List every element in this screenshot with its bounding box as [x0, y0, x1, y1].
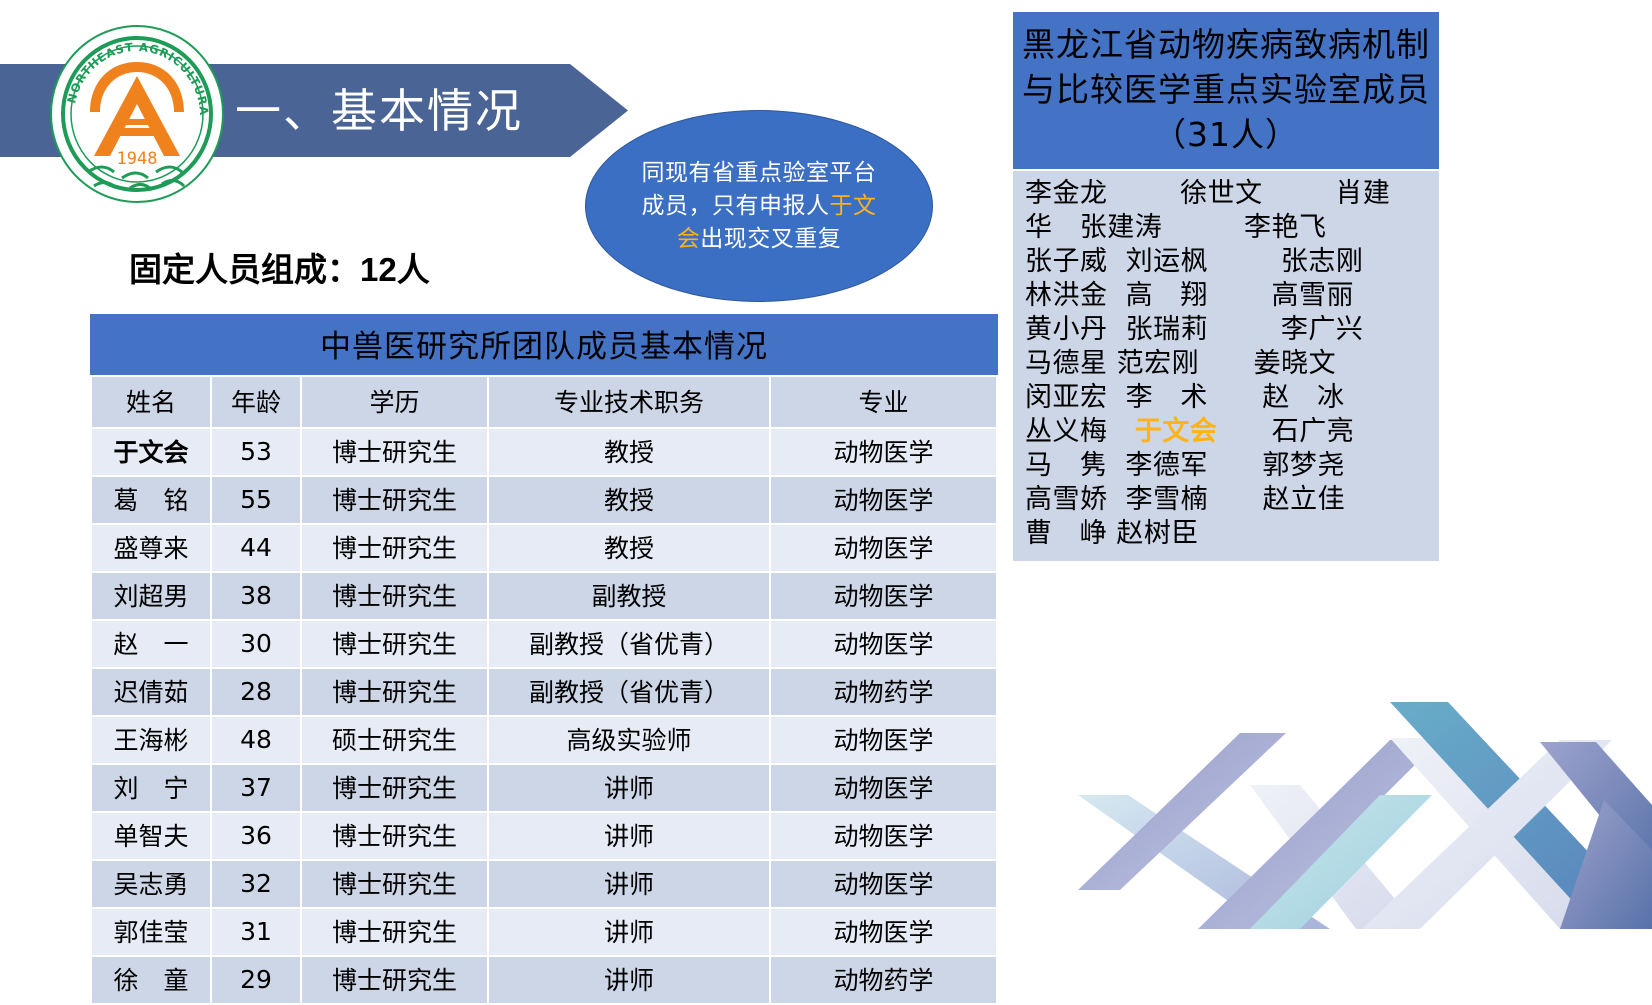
callout-text-after: 出现交叉重复: [700, 226, 841, 252]
cell-name: 赵 一: [92, 621, 210, 667]
team-table-caption: 中兽医研究所团队成员基本情况: [90, 314, 998, 375]
lab-member-names: 马德星 范宏刚 姜晓文: [1025, 348, 1336, 379]
lab-member-line: 丛义梅 于文会 石广亮: [1025, 415, 1429, 449]
cell-age: 31: [212, 909, 300, 955]
cell-major: 动物医学: [771, 765, 996, 811]
table-row: 徐 童29博士研究生讲师动物药学: [92, 957, 996, 1003]
lab-member-names: 丛义梅: [1025, 416, 1135, 447]
cell-name: 刘超男: [92, 573, 210, 619]
cell-title: 教授: [489, 525, 769, 571]
cell-age: 38: [212, 573, 300, 619]
cell-degree: 博士研究生: [302, 621, 487, 667]
table-row: 于文会53博士研究生教授动物医学: [92, 429, 996, 475]
cell-major: 动物医学: [771, 525, 996, 571]
cell-title: 讲师: [489, 765, 769, 811]
cell-degree: 硕士研究生: [302, 717, 487, 763]
cell-degree: 博士研究生: [302, 957, 487, 1003]
lab-member-names: 高雪娇 李雪楠 赵立佳: [1025, 484, 1345, 515]
cell-title: 讲师: [489, 813, 769, 859]
cell-age: 44: [212, 525, 300, 571]
cell-age: 30: [212, 621, 300, 667]
decorative-ribbon-graphic: [1000, 620, 1652, 929]
cell-degree: 博士研究生: [302, 813, 487, 859]
cell-name: 刘 宁: [92, 765, 210, 811]
callout-bubble: 同现有省重点验室平台成员，只有申报人于文会出现交叉重复: [585, 110, 933, 302]
cell-age: 37: [212, 765, 300, 811]
cell-name: 葛 铭: [92, 477, 210, 523]
cell-title: 讲师: [489, 909, 769, 955]
team-table-container: 中兽医研究所团队成员基本情况 姓名 年龄 学历 专业技术职务 专业 于文会53博…: [90, 314, 986, 1005]
lab-member-line: 李金龙 徐世文 肖建: [1025, 177, 1429, 211]
table-row: 单智夫36博士研究生讲师动物医学: [92, 813, 996, 859]
lab-panel-title: 黑龙江省动物疾病致病机制与比较医学重点实验室成员（31人）: [1013, 12, 1439, 169]
table-row: 刘 宁37博士研究生讲师动物医学: [92, 765, 996, 811]
lab-member-line: 黄小丹 张瑞莉 李广兴: [1025, 313, 1429, 347]
table-row: 迟倩茹28博士研究生副教授（省优青）动物药学: [92, 669, 996, 715]
cell-major: 动物药学: [771, 669, 996, 715]
lab-member-names: 马 隽 李德军 郭梦尧: [1025, 450, 1345, 481]
cell-name: 郭佳莹: [92, 909, 210, 955]
table-header-row: 姓名 年龄 学历 专业技术职务 专业: [92, 377, 996, 427]
cell-age: 32: [212, 861, 300, 907]
cell-age: 36: [212, 813, 300, 859]
cell-major: 动物医学: [771, 429, 996, 475]
cell-title: 副教授: [489, 573, 769, 619]
cell-name: 徐 童: [92, 957, 210, 1003]
cell-age: 55: [212, 477, 300, 523]
cell-degree: 博士研究生: [302, 861, 487, 907]
lab-member-names: 张子威 刘运枫 张志刚: [1025, 246, 1363, 277]
cell-title: 副教授（省优青）: [489, 669, 769, 715]
table-row: 郭佳莹31博士研究生讲师动物医学: [92, 909, 996, 955]
cell-title: 高级实验师: [489, 717, 769, 763]
column-header-title: 专业技术职务: [489, 377, 769, 427]
table-row: 葛 铭55博士研究生教授动物医学: [92, 477, 996, 523]
lab-member-names: 曹 峥 赵树臣: [1025, 518, 1199, 549]
lab-member-line: 林洪金 高 翔 高雪丽: [1025, 279, 1429, 313]
cell-degree: 博士研究生: [302, 525, 487, 571]
cell-major: 动物医学: [771, 477, 996, 523]
cell-name: 迟倩茹: [92, 669, 210, 715]
table-row: 盛尊来44博士研究生教授动物医学: [92, 525, 996, 571]
logo-year: 1948: [117, 149, 158, 169]
cell-degree: 博士研究生: [302, 477, 487, 523]
column-header-name: 姓名: [92, 377, 210, 427]
lab-member-line: 曹 峥 赵树臣: [1025, 517, 1429, 551]
lab-member-line: 马德星 范宏刚 姜晓文: [1025, 347, 1429, 381]
cell-title: 讲师: [489, 861, 769, 907]
cell-degree: 博士研究生: [302, 669, 487, 715]
cell-major: 动物医学: [771, 813, 996, 859]
university-logo-icon: 1948 NORTHEAST AGRICULTURAL UNIVERSITY: [48, 24, 226, 204]
callout-text: 同现有省重点验室平台成员，只有申报人于文会出现交叉重复: [634, 157, 884, 256]
cell-age: 28: [212, 669, 300, 715]
cell-major: 动物医学: [771, 909, 996, 955]
table-row: 赵 一30博士研究生副教授（省优青）动物医学: [92, 621, 996, 667]
column-header-degree: 学历: [302, 377, 487, 427]
cell-degree: 博士研究生: [302, 573, 487, 619]
cell-age: 48: [212, 717, 300, 763]
lab-member-names: 黄小丹 张瑞莉 李广兴: [1025, 314, 1363, 345]
cell-name: 王海彬: [92, 717, 210, 763]
lab-member-names: 林洪金 高 翔 高雪丽: [1025, 280, 1354, 311]
cell-major: 动物医学: [771, 861, 996, 907]
lab-member-line: 华 张建涛 李艳飞: [1025, 211, 1429, 245]
team-table: 中兽医研究所团队成员基本情况 姓名 年龄 学历 专业技术职务 专业 于文会53博…: [90, 314, 998, 1005]
cell-title: 教授: [489, 429, 769, 475]
lab-member-names: 华 张建涛 李艳飞: [1025, 212, 1327, 243]
cell-major: 动物药学: [771, 957, 996, 1003]
cell-name: 单智夫: [92, 813, 210, 859]
column-header-major: 专业: [771, 377, 996, 427]
lab-member-highlight-name: 于文会: [1135, 416, 1218, 447]
cell-name: 吴志勇: [92, 861, 210, 907]
cell-name: 于文会: [92, 429, 210, 475]
cell-title: 副教授（省优青）: [489, 621, 769, 667]
table-row: 刘超男38博士研究生副教授动物医学: [92, 573, 996, 619]
lab-members-list: 李金龙 徐世文 肖建华 张建涛 李艳飞张子威 刘运枫 张志刚林洪金 高 翔 高雪…: [1013, 171, 1439, 561]
table-row: 王海彬48硕士研究生高级实验师动物医学: [92, 717, 996, 763]
column-header-age: 年龄: [212, 377, 300, 427]
lab-member-line: 马 隽 李德军 郭梦尧: [1025, 449, 1429, 483]
page-title: 一、基本情况: [235, 68, 595, 154]
cell-age: 29: [212, 957, 300, 1003]
cell-name: 盛尊来: [92, 525, 210, 571]
cell-degree: 博士研究生: [302, 909, 487, 955]
lab-panel: 黑龙江省动物疾病致病机制与比较医学重点实验室成员（31人） 李金龙 徐世文 肖建…: [1013, 12, 1439, 561]
lab-member-names: 李金龙 徐世文 肖建: [1025, 178, 1390, 209]
cell-degree: 博士研究生: [302, 429, 487, 475]
cell-major: 动物医学: [771, 717, 996, 763]
cell-age: 53: [212, 429, 300, 475]
cell-major: 动物医学: [771, 573, 996, 619]
lab-member-line: 张子威 刘运枫 张志刚: [1025, 245, 1429, 279]
lab-member-names: 石广亮: [1217, 416, 1354, 447]
cell-title: 讲师: [489, 957, 769, 1003]
cell-degree: 博士研究生: [302, 765, 487, 811]
fixed-staff-heading: 固定人员组成：12人: [129, 243, 430, 291]
cell-title: 教授: [489, 477, 769, 523]
lab-member-line: 闵亚宏 李 术 赵 冰: [1025, 381, 1429, 415]
lab-member-names: 闵亚宏 李 术 赵 冰: [1025, 382, 1345, 413]
cell-major: 动物医学: [771, 621, 996, 667]
table-row: 吴志勇32博士研究生讲师动物医学: [92, 861, 996, 907]
lab-member-line: 高雪娇 李雪楠 赵立佳: [1025, 483, 1429, 517]
